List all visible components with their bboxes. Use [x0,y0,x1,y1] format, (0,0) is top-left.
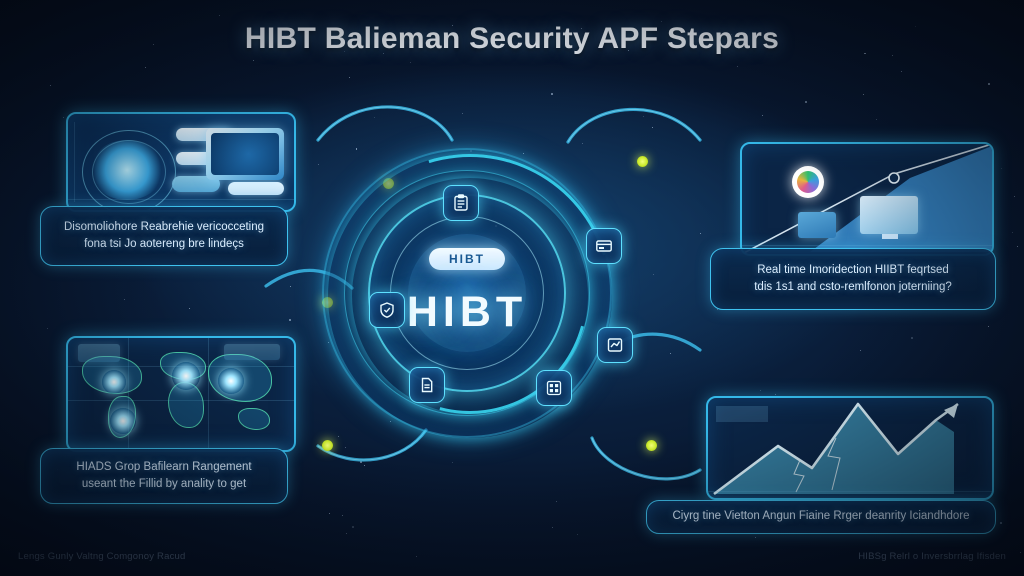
hub-wordmark: HIBT [322,288,612,337]
growth-chart-content [708,398,992,498]
caption-top-left: Disomoliohore Reabrehie vericocceting fo… [40,206,288,266]
caption-top-right-line2: tdis 1s1 and csto-remlfonon joterniing? [754,281,952,293]
infographic-canvas: HIBT Balieman Security APF Stepars [0,0,1024,576]
caption-top-right-line1: Real time Imoridection HIIBT feqrtsed [757,264,949,276]
dashboard-thumbnail-content [68,114,294,210]
monitor-large-icon [860,196,918,234]
apps-grid-icon[interactable] [536,370,572,406]
dashboard-label-pill [228,182,284,195]
footer-right-text: HIBSg Relrl o Inversbrrlag Ifisden [858,551,1006,562]
devices-thumbnail[interactable] [740,142,994,256]
document-icon[interactable] [409,367,445,403]
caption-bottom-left-line1: HIADS Grop Bafilearn Rangement [76,461,251,473]
devices-thumbnail-content [742,144,992,254]
caption-top-left-line1: Disomoliohore Reabrehie vericocceting [64,221,264,233]
page-title: HIBT Balieman Security APF Stepars [0,22,1024,56]
caption-top-left-line2: fona tsi Jo aotereng bre lindeçs [84,238,244,250]
map-node [102,370,126,394]
card-media-icon[interactable] [586,228,622,264]
caption-bottom-right: Ciyrg tine Vietton Angun Fiaine Rrger de… [646,500,996,534]
caption-bottom-right-line1: Ciyrg tine Vietton Angun Fiaine Rrger de… [672,508,969,525]
connector-node-bottom-left [322,440,333,451]
footer-left-text: Lengs Gunly Valtng Comgonoy Racud [18,551,186,562]
connector-node-bottom-right [646,440,657,451]
shield-badge-icon[interactable] [369,292,405,328]
world-map-thumbnail[interactable] [66,336,296,452]
connector-node-top-right [637,156,648,167]
dashboard-thumbnail[interactable] [66,112,296,212]
map-node [172,362,200,390]
caption-top-right: Real time Imoridection HIIBT feqrtsed td… [710,248,996,310]
growth-chart-thumbnail[interactable] [706,396,994,500]
hub-badge: HIBT [429,248,505,270]
monitor-small-icon [798,212,836,238]
map-node [110,408,136,434]
world-map-content [68,338,294,450]
caption-bottom-left: HIADS Grop Bafilearn Rangement useant th… [40,448,288,504]
clipboard-checklist-icon[interactable] [443,185,479,221]
chart-check-icon[interactable] [597,327,633,363]
dashboard-device-preview [206,128,284,180]
map-node [218,368,244,394]
caption-bottom-left-line2: useant the Fillid by anality to get [82,478,246,490]
brand-logo-icon [792,166,824,198]
